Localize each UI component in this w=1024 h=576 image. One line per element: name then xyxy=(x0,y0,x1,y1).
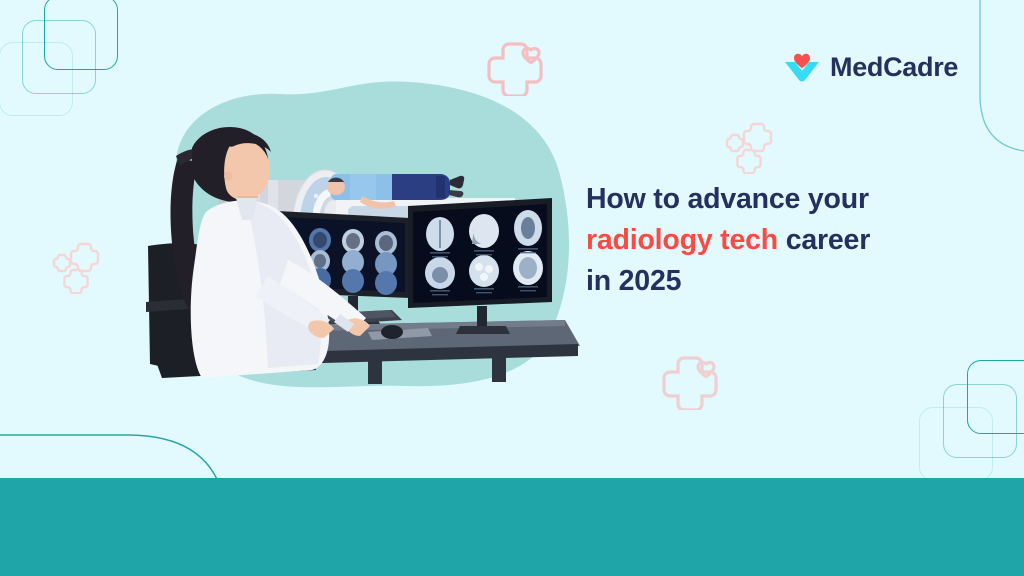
headline-line-3: in 2025 xyxy=(586,265,681,297)
bottom-teal-bar xyxy=(0,478,1024,576)
headline-highlight: radiology tech xyxy=(586,224,778,256)
headline-line-1: How to advance your xyxy=(586,183,869,215)
headline-line-2-rest: career xyxy=(778,224,870,256)
sparkle-cluster-left xyxy=(45,232,107,294)
radiology-technician-workstation-illustration xyxy=(140,70,590,420)
decor-square xyxy=(919,407,993,481)
medical-cross-heart-icon-bottom xyxy=(662,350,726,410)
sparkle-cluster-right xyxy=(718,112,780,174)
logo-text: MedCadre xyxy=(830,54,958,81)
decor-squares-bottom-right xyxy=(905,358,1024,493)
marketing-banner: MedCadre How to advance your radiology t… xyxy=(0,0,1024,576)
page-title: How to advance your radiology tech caree… xyxy=(586,179,986,301)
brand-logo[interactable]: MedCadre xyxy=(783,50,958,84)
logo-mark xyxy=(783,50,821,84)
decor-square xyxy=(0,42,73,116)
decor-squares-top-left xyxy=(0,0,136,129)
